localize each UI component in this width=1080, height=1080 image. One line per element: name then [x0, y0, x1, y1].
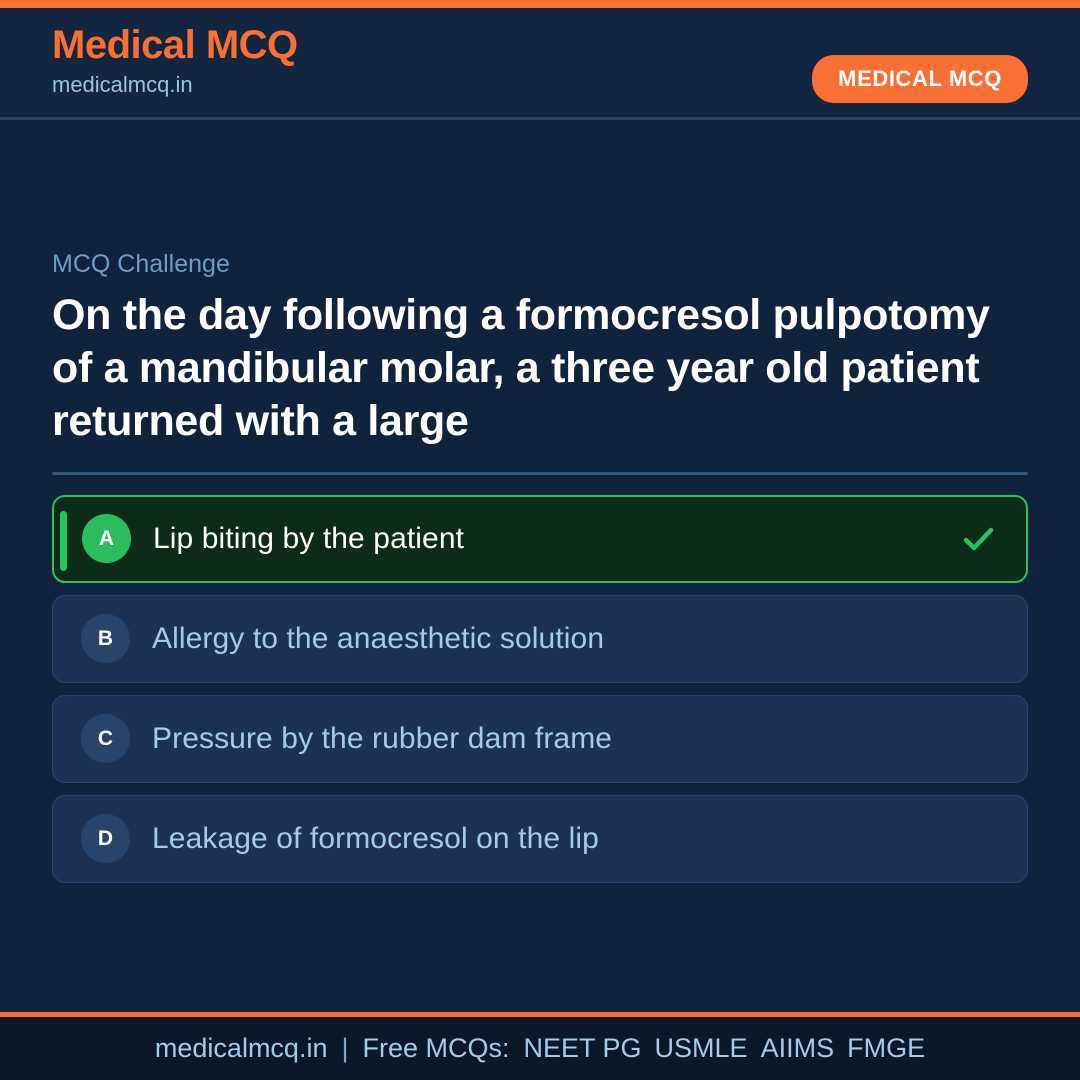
option-label-a: Lip biting by the patient [153, 522, 464, 555]
option-row-b[interactable]: B Allergy to the anaesthetic solution [52, 595, 1028, 683]
option-badge-c: C [81, 714, 130, 763]
footer-bar: medicalmcq.in | Free MCQs: NEET PG USMLE… [0, 1012, 1080, 1080]
footer-exam-list: NEET PG USMLE AIIMS FMGE [524, 1033, 926, 1064]
footer-exam-fmge: FMGE [847, 1033, 925, 1064]
footer-exam-aiims: AIIMS [761, 1033, 835, 1064]
option-label-d: Leakage of formocresol on the lip [152, 822, 599, 855]
option-label-b: Allergy to the anaesthetic solution [152, 622, 604, 655]
options-list: A Lip biting by the patient B Allergy to… [52, 495, 1028, 883]
footer-separator: | [341, 1033, 348, 1064]
option-badge-d: D [81, 814, 130, 863]
mcq-card: Medical MCQ medicalmcq.in MEDICAL MCQ MC… [0, 0, 1080, 1080]
header-badge: MEDICAL MCQ [812, 55, 1028, 103]
question-text: On the day following a formocresol pulpo… [52, 289, 1028, 448]
footer-exam-usmle: USMLE [655, 1033, 748, 1064]
question-body: MCQ Challenge On the day following a for… [0, 120, 1080, 1012]
option-badge-b: B [81, 614, 130, 663]
footer-site[interactable]: medicalmcq.in [155, 1033, 328, 1064]
option-badge-a: A [82, 514, 131, 563]
brand-subtitle: medicalmcq.in [52, 68, 298, 101]
eyebrow-label: MCQ Challenge [52, 250, 1028, 279]
option-row-c[interactable]: C Pressure by the rubber dam frame [52, 695, 1028, 783]
header-bar: Medical MCQ medicalmcq.in MEDICAL MCQ [0, 8, 1080, 120]
question-divider [52, 472, 1028, 475]
brand-block: Medical MCQ medicalmcq.in [52, 24, 298, 101]
footer-prefix: Free MCQs: [362, 1033, 509, 1064]
check-icon [958, 519, 998, 559]
option-label-c: Pressure by the rubber dam frame [152, 722, 612, 755]
top-accent-strip [0, 0, 1080, 8]
brand-title: Medical MCQ [52, 24, 298, 66]
correct-accent-bar [60, 511, 67, 571]
footer-exam-neetpg: NEET PG [524, 1033, 642, 1064]
footer-text: medicalmcq.in | Free MCQs: NEET PG USMLE… [155, 1033, 925, 1064]
option-row-a[interactable]: A Lip biting by the patient [52, 495, 1028, 583]
option-row-d[interactable]: D Leakage of formocresol on the lip [52, 795, 1028, 883]
